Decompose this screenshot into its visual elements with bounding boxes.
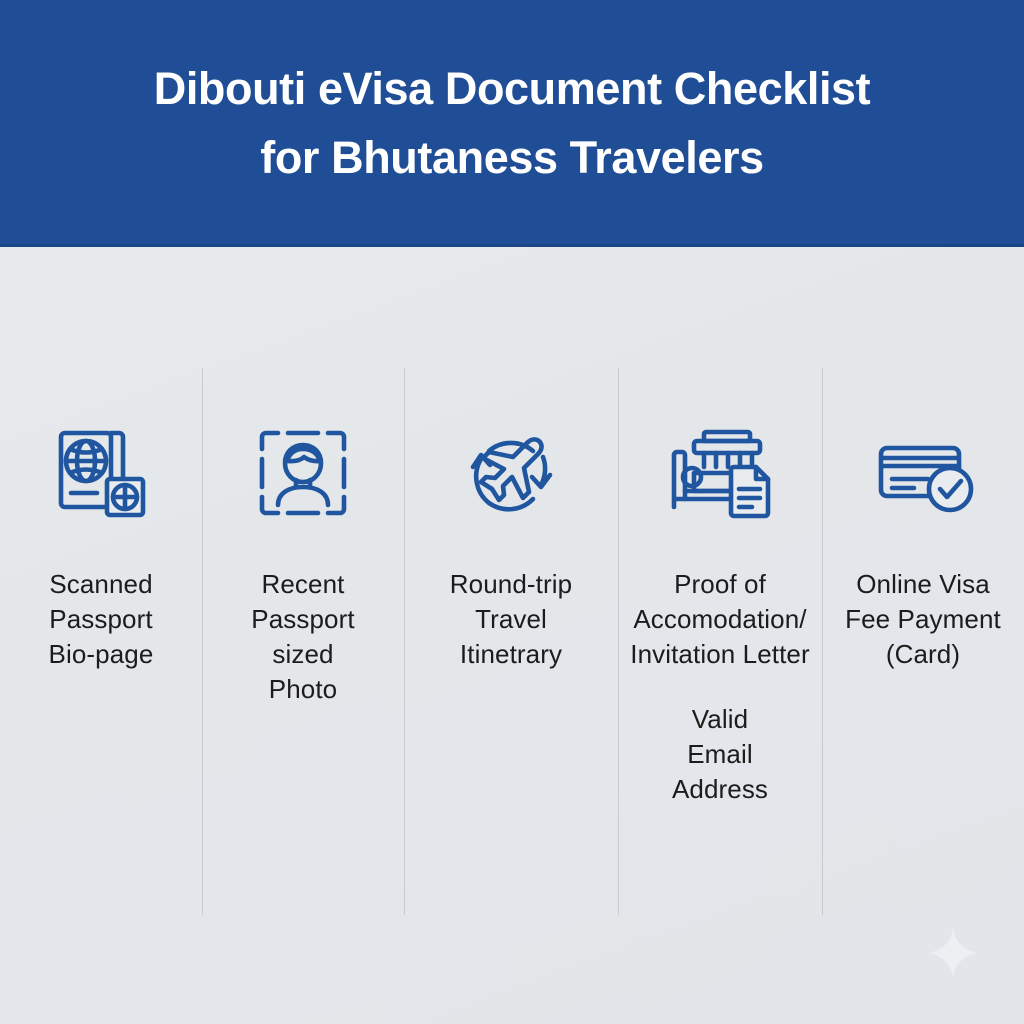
- checklist-columns: Scanned Passport Bio-page: [0, 368, 1024, 916]
- checklist-item-travel-itinerary: Round-trip Travel Itinetrary: [404, 368, 618, 916]
- header-banner: Dibouti eVisa Document Checklist for Bhu…: [0, 0, 1024, 247]
- checklist-item-label: Scanned Passport Bio-page: [49, 567, 154, 672]
- passport-globe-stamp-icon: [41, 420, 161, 525]
- checklist-item-passport-photo: Recent Passport sized Photo: [202, 368, 404, 916]
- checklist-item-label-secondary: Valid Email Address: [672, 702, 768, 807]
- checklist-item-visa-fee-payment: Online Visa Fee Payment (Card): [822, 368, 1024, 916]
- checklist-item-label: Proof of Accomodation/ Invitation Letter: [630, 567, 809, 672]
- four-point-star-sparkle-icon: [926, 926, 980, 980]
- page-title-line-2: for Bhutaness Travelers: [260, 124, 764, 192]
- infographic-canvas: Dibouti eVisa Document Checklist for Bhu…: [0, 0, 1024, 1024]
- passport-photo-portrait-icon: [243, 420, 363, 525]
- hotel-bed-document-icon: [660, 420, 780, 525]
- checklist-item-scanned-passport: Scanned Passport Bio-page: [0, 368, 202, 916]
- checklist-item-label: Recent Passport sized Photo: [251, 567, 354, 707]
- page-title-line-1: Dibouti eVisa Document Checklist: [154, 55, 871, 123]
- credit-card-check-icon: [863, 420, 983, 525]
- checklist-item-label: Online Visa Fee Payment (Card): [845, 567, 1001, 672]
- checklist-item-label: Round-trip Travel Itinetrary: [450, 567, 572, 672]
- checklist-item-accommodation: Proof of Accomodation/ Invitation Letter…: [618, 368, 822, 916]
- airplane-round-trip-icon: [451, 420, 571, 525]
